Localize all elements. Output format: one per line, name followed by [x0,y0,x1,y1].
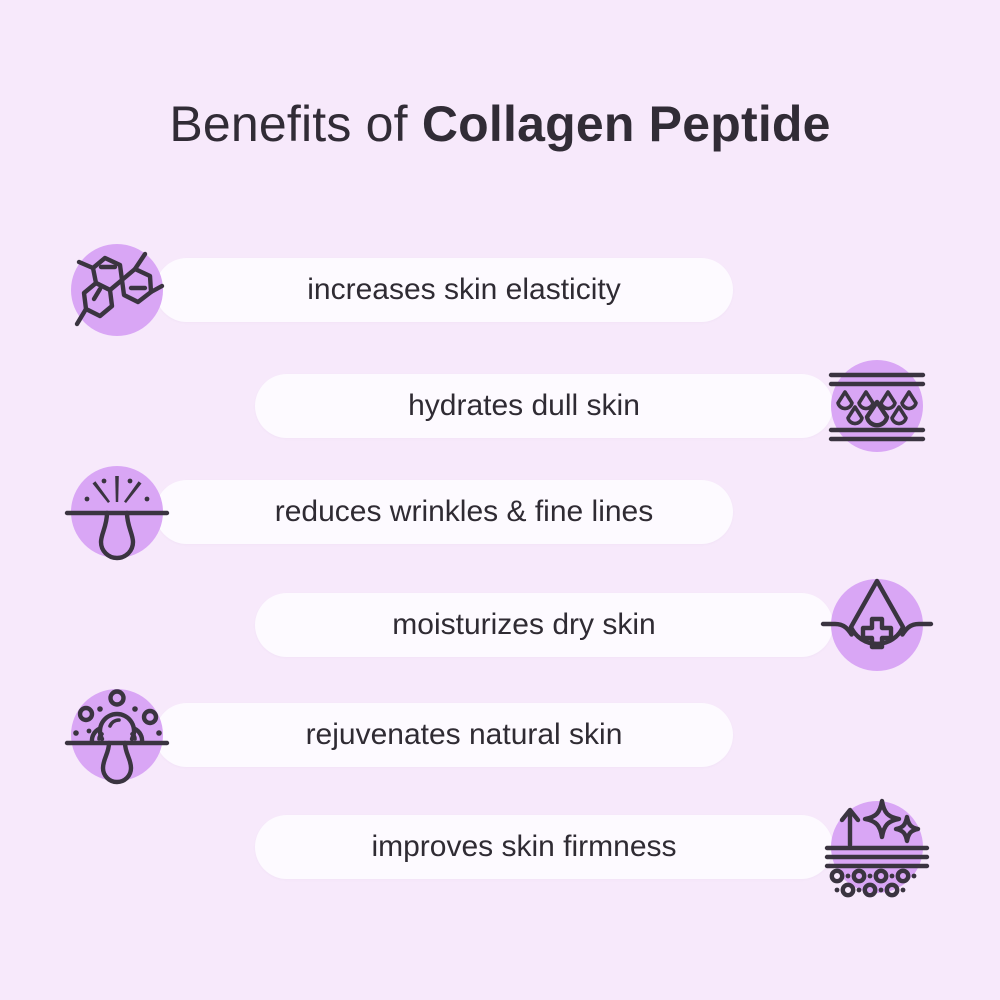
benefit-label: rejuvenates natural skin [155,703,733,767]
page-title-lead: Benefits of [169,96,422,152]
skin-layers-arrow-sparkle-icon [829,799,925,895]
infographic-canvas: Benefits of Collagen Peptide increases s… [0,0,1000,1000]
skin-cell-renewal-follicle-icon [69,687,165,783]
benefit-label: hydrates dull skin [255,374,833,438]
firmness-glyph [823,793,931,901]
collagen-molecule-glyph [63,236,171,344]
benefit-row: increases skin elasticity [0,242,1000,338]
droplet-plus-icon [829,577,925,673]
collagen-molecule-icon [69,242,165,338]
benefit-pill[interactable]: reduces wrinkles & fine lines [155,480,733,544]
page-title-emphasis: Collagen Peptide [422,96,831,152]
page-title: Benefits of Collagen Peptide [0,92,1000,156]
water-droplets-glyph [823,352,931,460]
water-droplets-skin-layers-icon [829,358,925,454]
benefit-label: improves skin firmness [255,815,833,879]
benefit-label: increases skin elasticity [155,258,733,322]
benefit-label: moisturizes dry skin [255,593,833,657]
skin-pore-follicle-rays-icon [69,464,165,560]
benefit-label: reduces wrinkles & fine lines [155,480,733,544]
droplet-plus-glyph [823,571,931,679]
benefit-row: hydrates dull skin [0,358,1000,454]
benefit-pill[interactable]: improves skin firmness [255,815,833,879]
benefit-row: improves skin firmness [0,799,1000,895]
cell-renewal-glyph [63,681,171,789]
benefit-pill[interactable]: hydrates dull skin [255,374,833,438]
benefit-row: moisturizes dry skin [0,577,1000,673]
benefit-row: rejuvenates natural skin [0,687,1000,783]
benefit-row: reduces wrinkles & fine lines [0,464,1000,560]
benefit-pill[interactable]: moisturizes dry skin [255,593,833,657]
benefit-pill[interactable]: rejuvenates natural skin [155,703,733,767]
pore-follicle-glyph [63,458,171,566]
benefit-pill[interactable]: increases skin elasticity [155,258,733,322]
